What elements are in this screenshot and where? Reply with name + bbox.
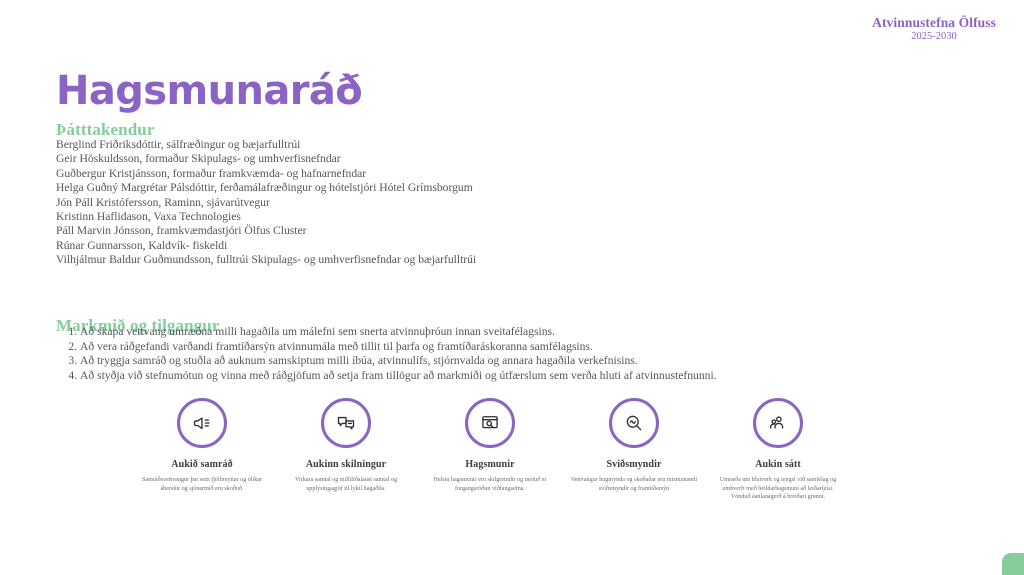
icon-circle — [753, 398, 803, 448]
card-title: Sviðsmyndir — [606, 459, 661, 470]
list-item: Kristinn Haflidason, Vaxa Technologies — [56, 210, 816, 224]
benefit-cards-row: Aukið samráð Samráðsvettvangur þar sem f… — [130, 398, 850, 502]
card-title: Hagsmunir — [465, 459, 514, 470]
page-title: Hagsmunaráð — [56, 71, 362, 111]
megaphone-icon — [192, 413, 212, 433]
list-item: Að skapa vettvang umræðna milli hagaðila… — [80, 325, 880, 340]
list-item: Vilhjálmur Baldur Guðmundsson, fulltrúi … — [56, 253, 816, 267]
slide-canvas: Atvinnustefna Ölfuss 2025-2030 Hagsmunar… — [0, 0, 1024, 575]
benefit-card: Sviðsmyndir Vettvangur hugmynda og skoða… — [562, 398, 706, 493]
list-item: Berglind Friðriksdóttir, sálfræðingur og… — [56, 138, 816, 152]
corner-accent-shape — [1002, 553, 1024, 575]
card-title: Aukinn skilningur — [306, 459, 386, 470]
card-description: Samráðsvettvangur þar sem fjölbreyttar o… — [138, 476, 266, 493]
list-item: Að styðja við stefnumótun og vinna með r… — [80, 369, 880, 384]
brand-name: Atvinnustefna Ölfuss — [872, 16, 996, 30]
participants-list: Berglind Friðriksdóttir, sálfræðingur og… — [56, 138, 816, 268]
chat-bubbles-icon — [336, 413, 356, 433]
benefit-card: Aukið samráð Samráðsvettvangur þar sem f… — [130, 398, 274, 493]
list-item: Guðbergur Kristjánsson, formaður framkvæ… — [56, 167, 816, 181]
icon-circle — [465, 398, 515, 448]
presentation-search-icon — [480, 413, 500, 433]
magnifier-chart-icon — [624, 413, 644, 433]
benefit-card: Hagsmunir Helstu hagsmunir eru skilgrein… — [418, 398, 562, 493]
list-item: Helga Guðný Margrétar Pálsdóttir, ferðam… — [56, 181, 816, 195]
list-item: Að vera ráðgefandi varðandi framtíðarsýn… — [80, 340, 880, 355]
brand-years: 2025-2030 — [872, 31, 996, 42]
card-description: Vettvangur hugmynda og skoðaðar eru mism… — [570, 476, 698, 493]
card-description: Helstu hagsmunir eru skilgreindir og mót… — [426, 476, 554, 493]
icon-circle — [321, 398, 371, 448]
list-item: Að tryggja samráð og stuðla að auknum sa… — [80, 354, 880, 369]
card-title: Aukin sátt — [755, 459, 801, 470]
card-description: Virkara samtal og milliliðalaust samtal … — [282, 476, 410, 493]
list-item: Rúnar Gunnarsson, Kaldvík- fiskeldi — [56, 239, 816, 253]
list-item: Geir Höskuldsson, formaður Skipulags- og… — [56, 152, 816, 166]
list-item: Jón Páll Kristófersson, Raminn, sjávarút… — [56, 196, 816, 210]
goals-list: Að skapa vettvang umræðna milli hagaðila… — [56, 325, 880, 383]
icon-circle — [177, 398, 227, 448]
benefit-card: Aukin sátt Umræða um hlutverk og tengsl … — [706, 398, 850, 502]
card-description: Umræða um hlutverk og tengsl við samféla… — [714, 476, 842, 502]
card-title: Aukið samráð — [171, 459, 232, 470]
list-item: Páll Marvin Jónsson, framkvæmdastjóri Öl… — [56, 224, 816, 238]
benefit-card: Aukinn skilningur Virkara samtal og mill… — [274, 398, 418, 493]
brand-lockup: Atvinnustefna Ölfuss 2025-2030 — [872, 16, 996, 42]
people-group-icon — [768, 413, 788, 433]
icon-circle — [609, 398, 659, 448]
